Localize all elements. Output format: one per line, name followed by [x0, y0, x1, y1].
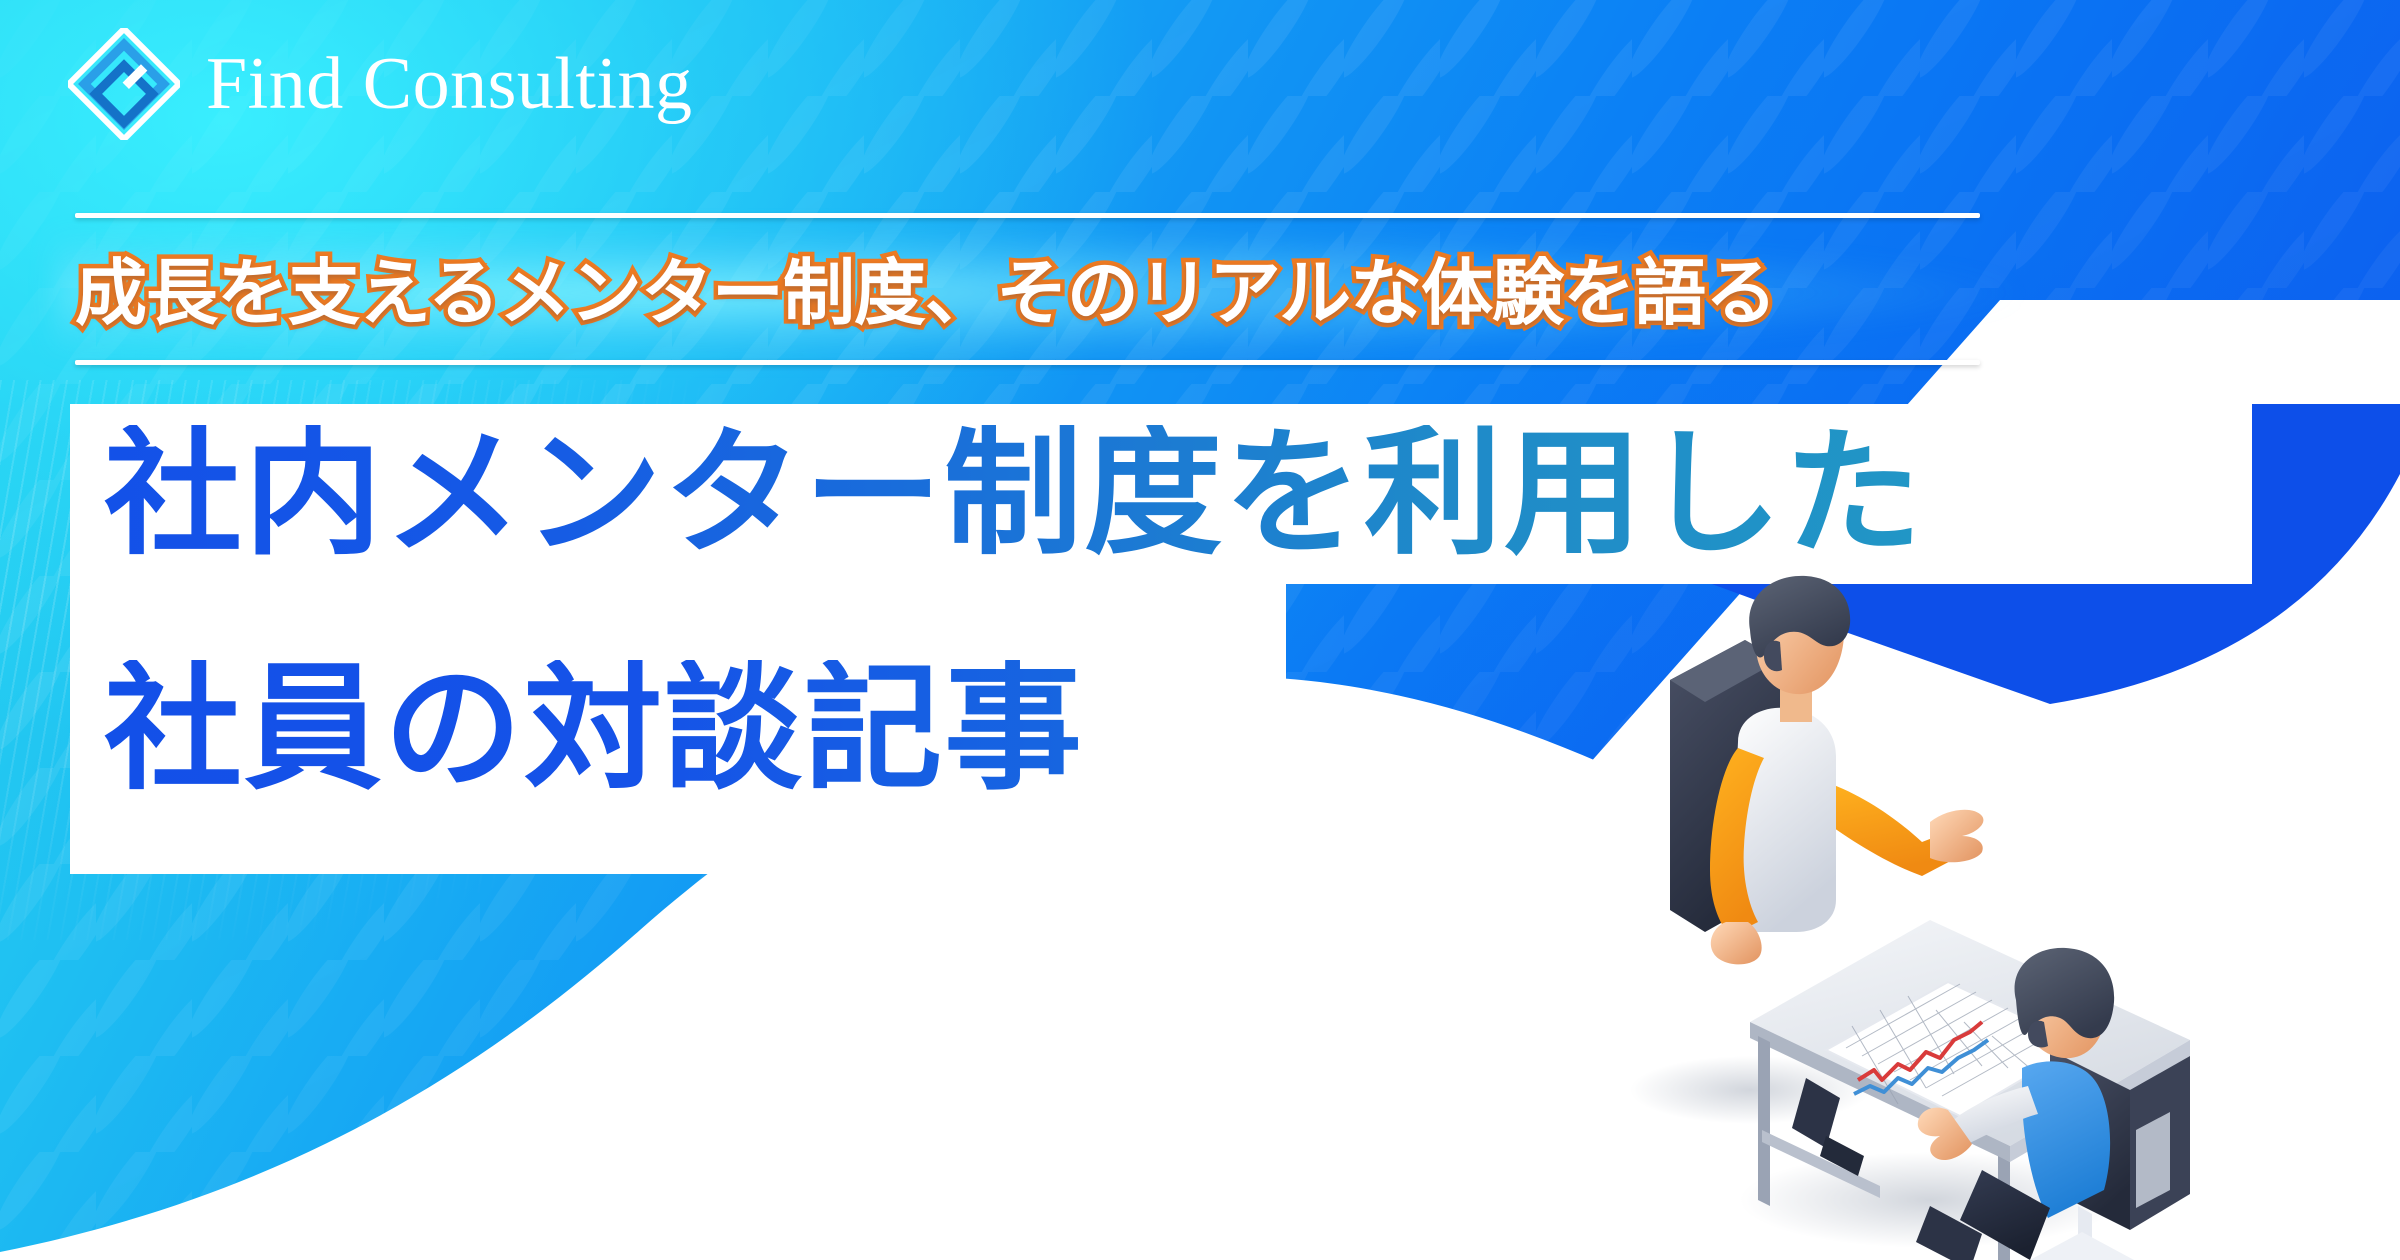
banner-canvas: Find Consulting 成長を支えるメンター制度、そのリアルな体験を語る… — [0, 0, 2400, 1260]
divider-bottom — [75, 360, 1980, 365]
page-title-line-1: 社内メンター制度を利用した — [70, 425, 1924, 563]
brand-name: Find Consulting — [206, 47, 693, 121]
divider-top — [75, 213, 1980, 218]
two-people-discussing-chart-illustration — [1630, 570, 2190, 1260]
mentor-in-orange-shirt — [1710, 576, 1983, 965]
kicker-row: 成長を支えるメンター制度、そのリアルな体験を語る — [75, 238, 1995, 348]
page-title-line-2: 社員の対談記事 — [70, 660, 1084, 798]
kicker-text: 成長を支えるメンター制度、そのリアルな体験を語る — [75, 257, 1776, 329]
title-panel-line2: 社員の対談記事 — [70, 584, 1286, 874]
diamond-f-logo-icon — [68, 28, 180, 140]
brand-lockup: Find Consulting — [68, 28, 693, 140]
title-panel-line1: 社内メンター制度を利用した — [70, 404, 2252, 584]
